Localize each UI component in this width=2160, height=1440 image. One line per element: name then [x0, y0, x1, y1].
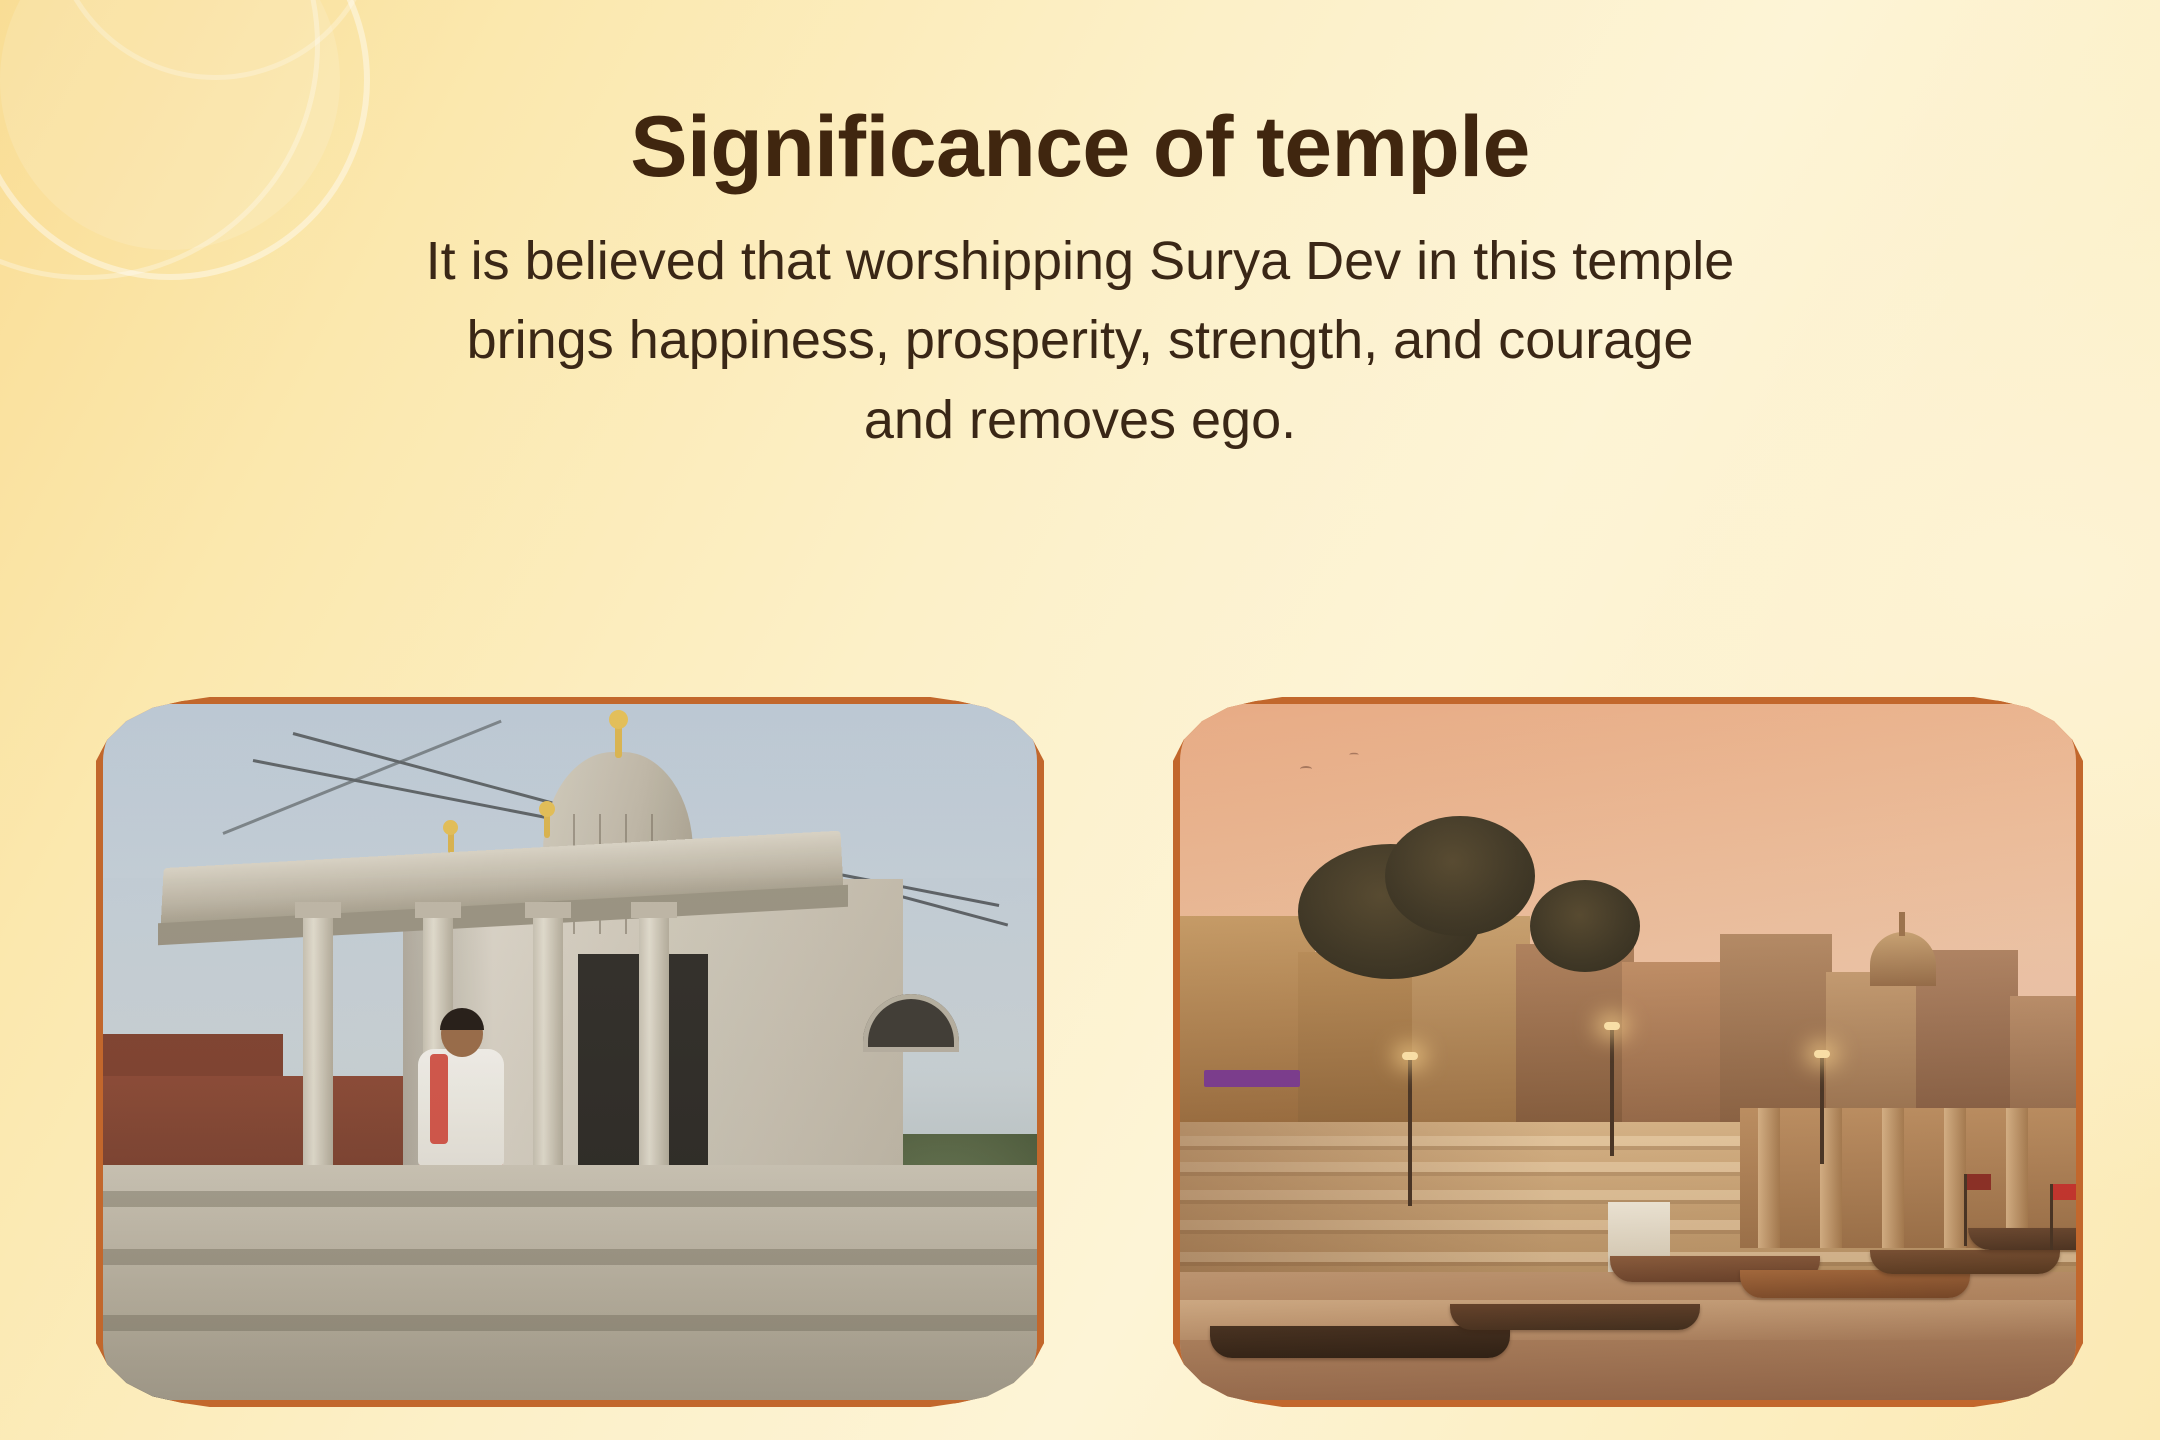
page-title: Significance of temple [0, 104, 2160, 190]
slide-content: Significance of temple It is believed th… [0, 0, 2160, 1440]
body-paragraph: It is believed that worshipping Surya De… [200, 222, 1960, 460]
body-line: brings happiness, prosperity, strength, … [200, 301, 1960, 380]
body-line: and removes ego. [200, 381, 1960, 460]
ghat-photo [1173, 697, 2083, 1407]
ghat-photo-image [1180, 704, 2076, 1400]
temple-photo [96, 697, 1044, 1407]
temple-photo-image [103, 704, 1037, 1400]
body-line: It is believed that worshipping Surya De… [200, 222, 1960, 301]
